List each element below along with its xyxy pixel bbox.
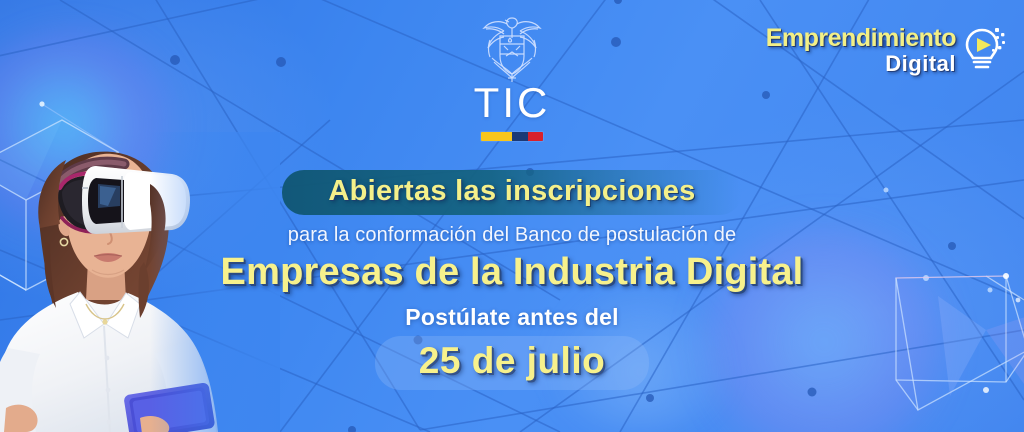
ed-line-1: Emprendimiento: [766, 26, 956, 51]
colombia-flag-bar: [481, 132, 543, 141]
main-title-text: Empresas de la Industria Digital: [0, 251, 1024, 294]
flag-stripe-yellow: [481, 132, 512, 141]
headline-pill: Abiertas las inscripciones: [282, 170, 741, 215]
flag-stripe-red: [528, 132, 544, 141]
promo-banner: TIC Emprendimiento Digital: [0, 0, 1024, 432]
headline-text: Abiertas las inscripciones: [328, 175, 695, 208]
flag-stripe-blue: [512, 132, 528, 141]
tic-wordmark: TIC: [437, 82, 587, 124]
deadline-pill: 25 de julio: [375, 336, 649, 390]
deadline-date-text: 25 de julio: [419, 340, 605, 382]
subheadline-text: para la conformación del Banco de postul…: [0, 224, 1024, 247]
cta-text: Postúlate antes del: [0, 304, 1024, 331]
hero-content: Abiertas las inscripciones para la confo…: [0, 170, 1024, 390]
emprendimiento-digital-wordmark: Emprendimiento Digital: [766, 26, 956, 75]
emprendimiento-digital-logo: Emprendimiento Digital: [766, 26, 1006, 75]
ed-line-2: Digital: [766, 53, 956, 75]
colombia-coat-of-arms-icon: [478, 12, 546, 84]
tic-logo: TIC: [437, 12, 587, 141]
lightbulb-play-icon: [958, 22, 1006, 74]
